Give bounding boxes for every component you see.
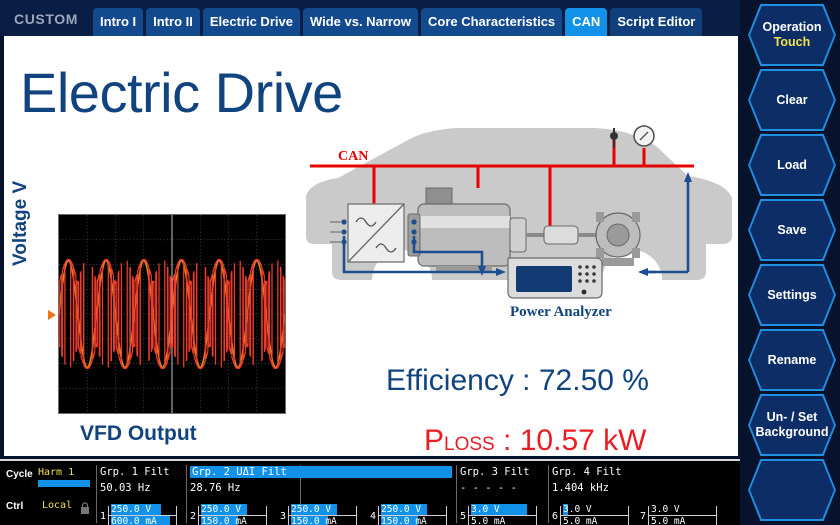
group-value-1: 50.03 Hz <box>100 482 151 494</box>
channel-current-label: 150.0 mA <box>381 516 427 525</box>
cycle-value: Harm 1 <box>38 467 74 478</box>
channel-current-label: 600.0 mA <box>111 516 157 525</box>
ctrl-value: Local <box>42 500 72 511</box>
sidebar-button-load[interactable]: Load <box>748 134 836 196</box>
status-divider-1 <box>186 465 187 523</box>
tab-core-characteristics[interactable]: Core Characteristics <box>421 8 562 36</box>
channel-voltage-label: 250.0 V <box>111 504 151 515</box>
cycle-label: Cycle <box>6 469 33 480</box>
oscilloscope-panel: Voltage V VFD Output <box>18 208 298 448</box>
group-value-2: 28.76 Hz <box>190 482 241 494</box>
group-header-3: Grp. 3 Filt <box>460 466 530 478</box>
channel-bracket-right <box>446 506 447 525</box>
channel-voltage-label: 3.0 V <box>471 504 500 515</box>
ploss-subscript: LOSS <box>444 434 495 455</box>
status-divider-4 <box>548 465 549 523</box>
channel-voltage-label: 250.0 V <box>201 504 241 515</box>
page-title: Electric Drive <box>20 60 343 125</box>
gauge-icon <box>634 126 654 146</box>
tab-intro-i[interactable]: Intro I <box>93 8 143 36</box>
channel-bracket-right <box>716 506 717 525</box>
sidebar-button-save[interactable]: Save <box>748 199 836 261</box>
channel-number: 1 <box>100 511 106 522</box>
power-analyzer-label: Power Analyzer <box>510 304 612 320</box>
sidebar: OperationTouchClearLoadSaveSettingsRenam… <box>740 0 840 525</box>
channel-5: 53.0 V5.0 mA <box>460 494 544 524</box>
application-window: CUSTOM Intro IIntro IIElectric DriveWide… <box>0 0 840 525</box>
scope-x-axis-label: VFD Output <box>80 422 197 446</box>
channel-6: 63.0 V5.0 mA <box>552 494 636 524</box>
group-value-3: - - - - - <box>460 482 517 494</box>
lock-icon <box>80 499 90 511</box>
channel-7: 73.0 V5.0 mA <box>640 494 724 524</box>
status-divider-3 <box>456 465 457 523</box>
channel-bracket-right <box>176 506 177 525</box>
sidebar-button-operation[interactable]: OperationTouch <box>748 4 836 66</box>
custom-label: CUSTOM <box>8 11 90 36</box>
scope-waveform-display[interactable] <box>58 214 286 414</box>
channel-bracket-right <box>536 506 537 525</box>
channel-number: 3 <box>280 511 286 522</box>
sidebar-button-label: Load <box>777 158 807 173</box>
ploss-label: P <box>424 424 444 456</box>
efficiency-value: 72.50 % <box>539 364 649 397</box>
channel-3: 3250.0 V150.0 mA <box>280 494 364 524</box>
sidebar-button-label: Clear <box>776 93 807 108</box>
channel-4: 4250.0 V150.0 mA <box>370 494 454 524</box>
tab-intro-ii[interactable]: Intro II <box>146 8 200 36</box>
power-analyzer-icon <box>508 258 602 298</box>
channel-2: 2250.0 V150.0 mA <box>190 494 274 524</box>
channel-current-label: 150.0 mA <box>291 516 337 525</box>
main-content-panel: Electric Drive Voltage V VFD Output <box>4 36 738 456</box>
channel-current-label: 5.0 mA <box>563 516 597 525</box>
efficiency-label: Efficiency : <box>386 364 531 397</box>
efficiency-readout: Efficiency : 72.50 % <box>386 364 649 398</box>
sidebar-button-settings[interactable]: Settings <box>748 264 836 326</box>
tab-script-editor[interactable]: Script Editor <box>610 8 702 36</box>
power-loss-readout: PLOSS : 10.57 kW <box>424 424 646 456</box>
channel-number: 5 <box>460 511 466 522</box>
channel-number: 2 <box>190 511 196 522</box>
sidebar-button-un-set-background[interactable]: Un- / Set Background <box>748 394 836 456</box>
status-divider-0 <box>96 465 97 523</box>
channel-bracket-right <box>266 506 267 525</box>
can-bus-label: CAN <box>338 149 368 164</box>
waveform-svg <box>59 215 285 413</box>
trigger-marker-icon <box>48 310 56 320</box>
ploss-separator: : <box>495 424 520 456</box>
channel-bracket-right <box>628 506 629 525</box>
tab-electric-drive[interactable]: Electric Drive <box>203 8 300 36</box>
scope-y-axis-label: Voltage V <box>10 181 32 266</box>
ploss-value: 10.57 kW <box>520 424 647 456</box>
tab-can[interactable]: CAN <box>565 8 607 36</box>
sidebar-button-label: Settings <box>767 288 816 303</box>
ctrl-label: Ctrl <box>6 501 23 512</box>
group-header-2: Grp. 2 UΔI Filt <box>190 466 452 478</box>
channel-bracket-right <box>356 506 357 525</box>
channel-voltage-label: 3.0 V <box>563 504 592 515</box>
sidebar-button-empty[interactable] <box>748 459 836 521</box>
group-header-1: Grp. 1 Filt <box>100 466 170 478</box>
sidebar-button-rename[interactable]: Rename <box>748 329 836 391</box>
channel-current-label: 5.0 mA <box>651 516 685 525</box>
channel-voltage-label: 250.0 V <box>291 504 331 515</box>
channel-voltage-label: 3.0 V <box>651 504 680 515</box>
sidebar-button-label: Un- / Set Background <box>748 410 836 440</box>
sidebar-button-label: Save <box>777 223 806 238</box>
sidebar-button-label: Rename <box>768 353 817 368</box>
sidebar-button-clear[interactable]: Clear <box>748 69 836 131</box>
tab-wide-vs-narrow[interactable]: Wide vs. Narrow <box>303 8 418 36</box>
channel-number: 7 <box>640 511 646 522</box>
channel-1: 1250.0 V600.0 mA <box>100 494 184 524</box>
group-value-4: 1.404 kHz <box>552 482 609 494</box>
tab-bar: CUSTOM Intro IIntro IIElectric DriveWide… <box>0 0 740 36</box>
sidebar-button-sublabel: Touch <box>774 35 811 50</box>
status-bar: CycleHarm 1CtrlLocalGrp. 1 Filt50.03 HzG… <box>0 459 740 525</box>
channel-current-label: 150.0 mA <box>201 516 247 525</box>
channel-number: 6 <box>552 511 558 522</box>
sidebar-button-label: Operation <box>762 20 821 35</box>
vehicle-diagram: CAN <box>296 36 738 336</box>
cycle-bar <box>38 480 90 487</box>
group-header-4: Grp. 4 Filt <box>552 466 622 478</box>
channel-current-label: 5.0 mA <box>471 516 505 525</box>
channel-voltage-label: 250.0 V <box>381 504 421 515</box>
channel-number: 4 <box>370 511 376 522</box>
